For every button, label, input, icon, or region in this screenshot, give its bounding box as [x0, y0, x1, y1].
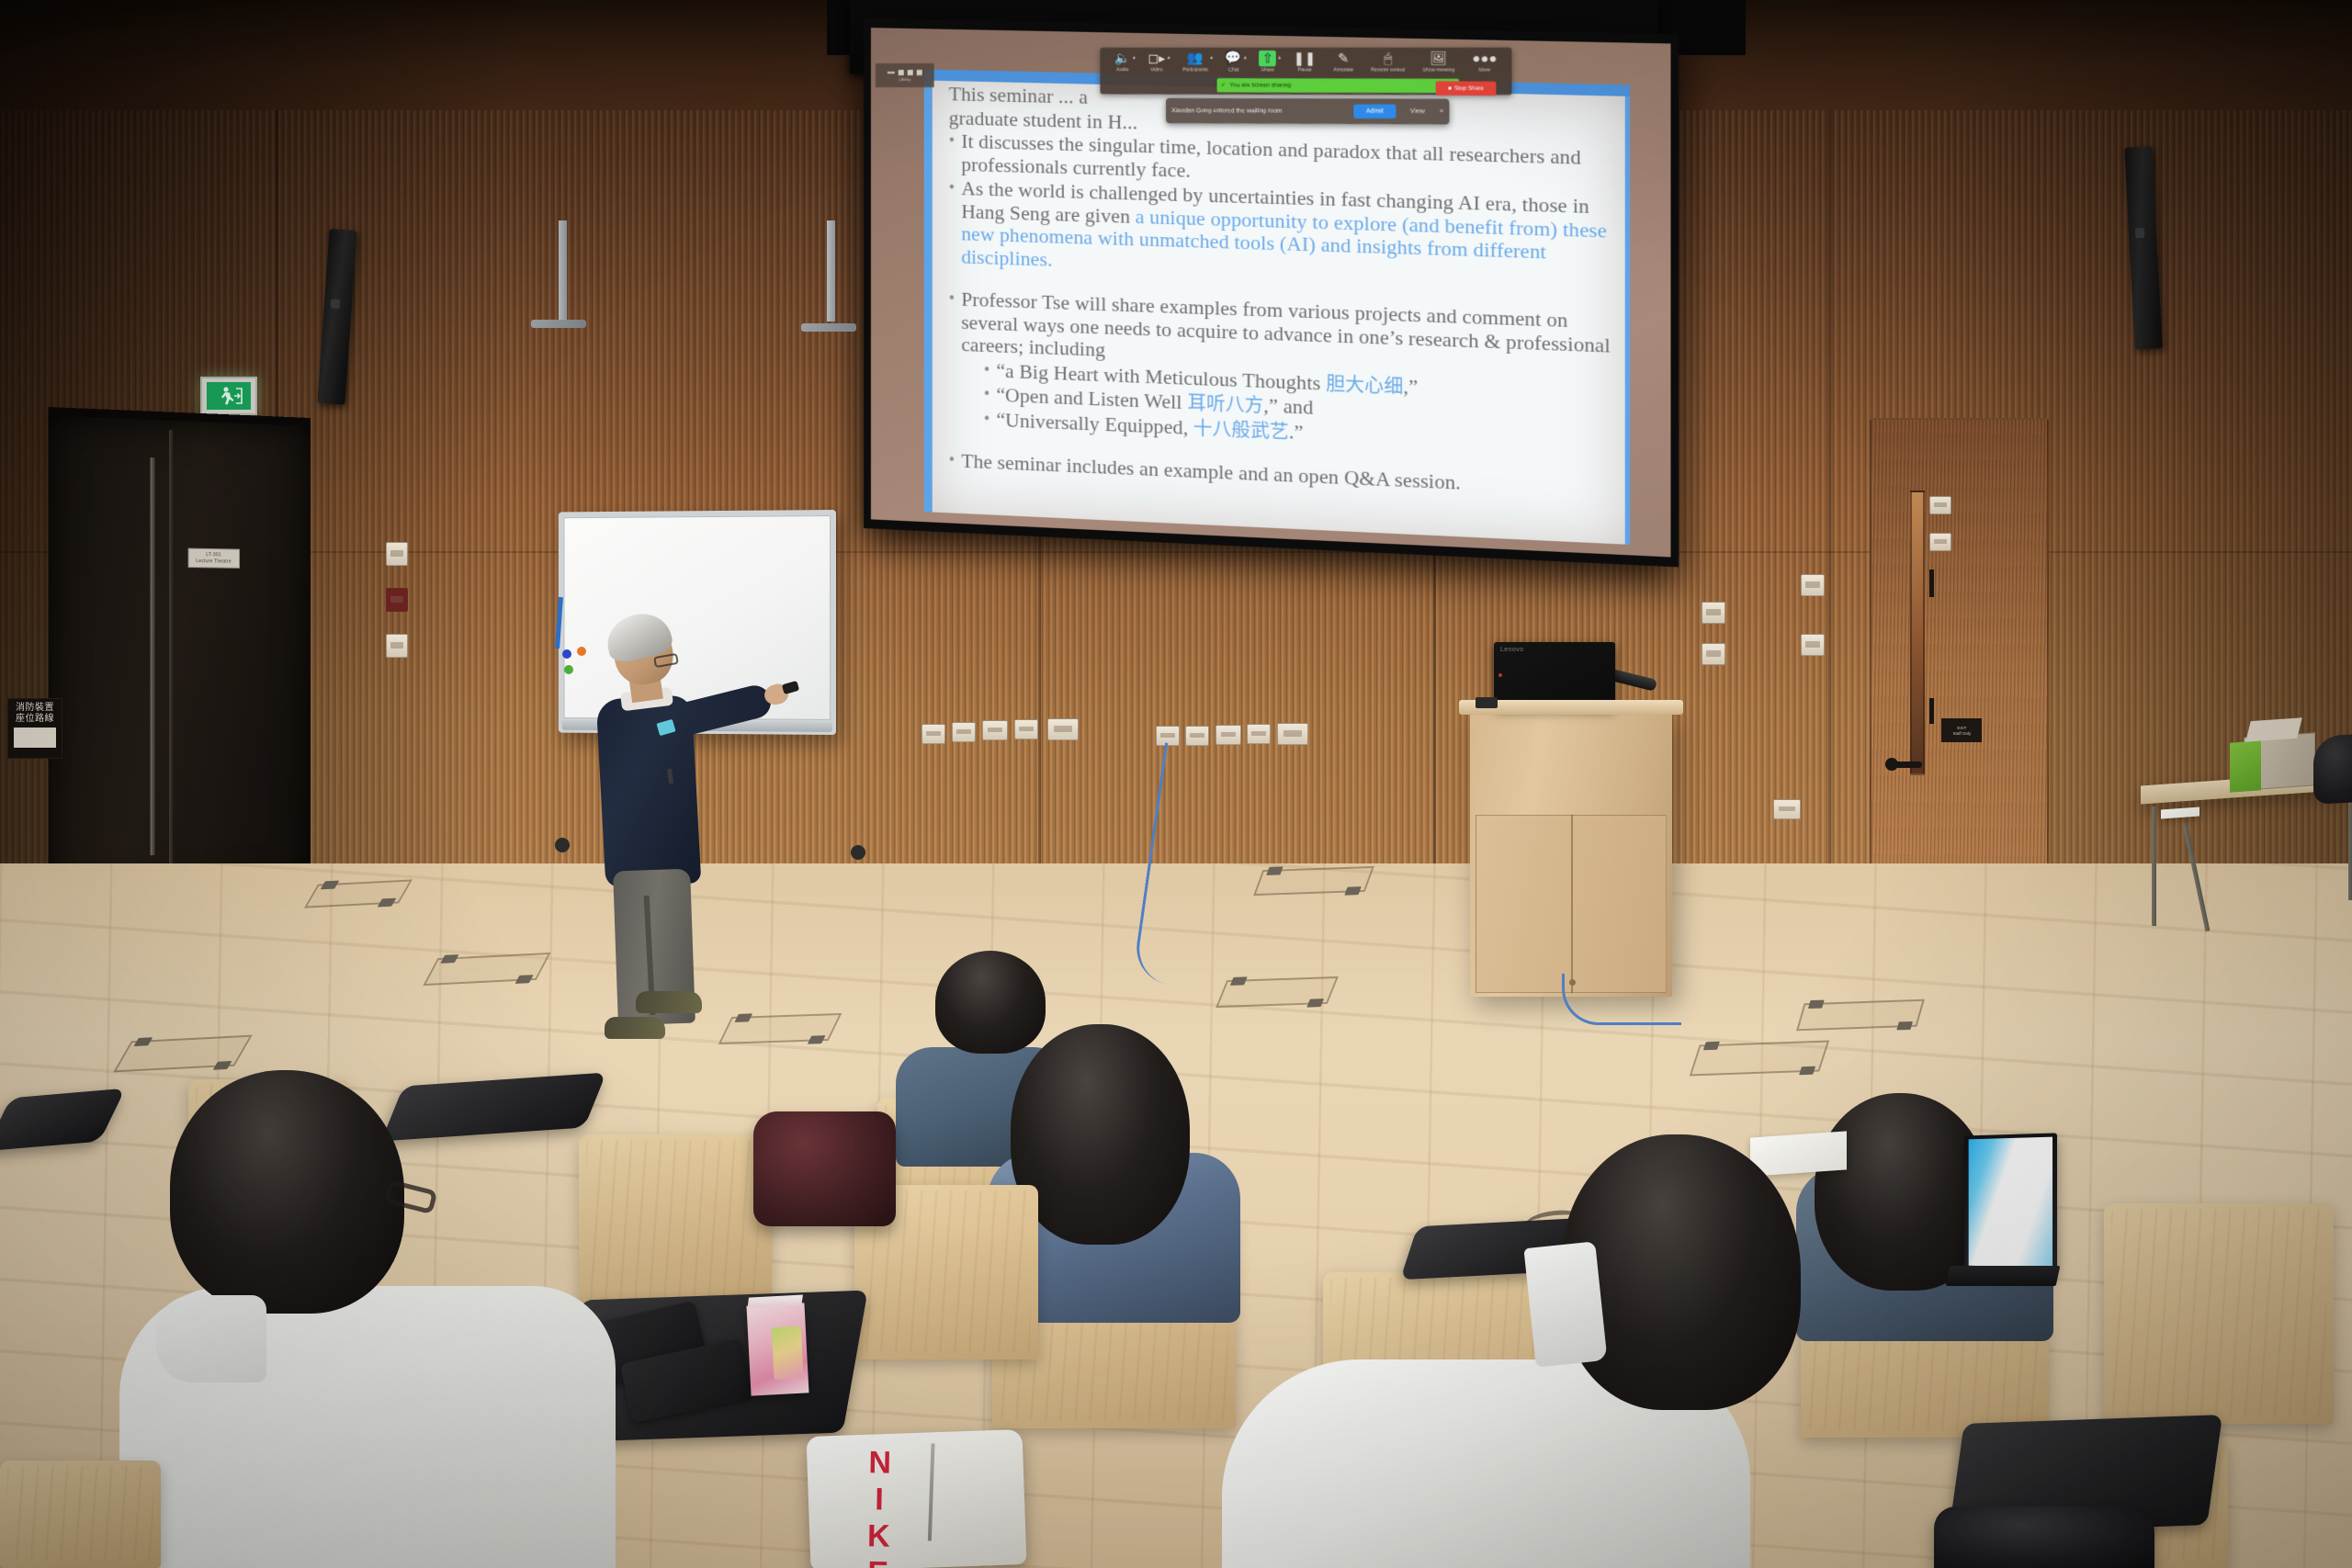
floor-service-box: [1253, 866, 1374, 896]
audience-laptop[interactable]: [1964, 1133, 2057, 1273]
bag-zipper[interactable]: [927, 1443, 934, 1540]
presenter-blazer: [596, 694, 702, 887]
podium-cabinet-split: [1571, 815, 1573, 993]
close-icon[interactable]: ×: [1440, 108, 1443, 115]
chevron-up-icon[interactable]: ▲: [1277, 55, 1282, 61]
wall-switch-plate[interactable]: [1216, 725, 1241, 745]
bullet-dot-icon: •: [949, 449, 955, 472]
whiteboard-magnet-green[interactable]: [564, 665, 573, 674]
view-button[interactable]: View: [1403, 108, 1433, 115]
wall-alarm-plate[interactable]: [386, 588, 408, 612]
whiteboard-foot-right: [801, 323, 856, 332]
zoom-toolbar-label: Chat: [1228, 67, 1238, 73]
network-cable: [1562, 974, 1681, 1025]
participants-icon: 👥: [1187, 51, 1204, 66]
stop-share-label: Stop Share: [1454, 85, 1484, 91]
bullet-dot-icon: •: [984, 358, 989, 381]
auditorium-seat[interactable]: [579, 1134, 772, 1318]
presenter-speaker: [579, 620, 744, 1052]
minimize-icon[interactable]: [888, 72, 895, 73]
whiteboard-foot-left: [531, 320, 586, 328]
laptop-screen[interactable]: [1969, 1137, 2052, 1269]
show-meeting-icon: 🖼: [1430, 51, 1447, 67]
juice-carton[interactable]: [746, 1303, 808, 1395]
stop-square-icon: ■: [1448, 85, 1452, 91]
zoom-toolbar-label: Pause: [1297, 67, 1311, 73]
chevron-up-icon[interactable]: ▲: [1209, 55, 1214, 61]
chevron-up-icon[interactable]: ▲: [1167, 55, 1171, 61]
door-hinge: [1929, 570, 1934, 597]
slide-text-plain-b: ,”: [1403, 375, 1418, 398]
wall-plate[interactable]: [1702, 643, 1725, 665]
slide-text-plain-b: ,” and: [1263, 394, 1313, 419]
square-icon[interactable]: [899, 69, 904, 74]
wall-socket-plate[interactable]: [1014, 719, 1038, 739]
door-plate-line2: Lecture Theatre: [196, 558, 232, 565]
wall-switch-plate[interactable]: [952, 722, 976, 742]
wall-switch-plate[interactable]: [1247, 724, 1271, 744]
auditorium-seat[interactable]: [2104, 1203, 2334, 1424]
zoom-toolbar-label: Annotate: [1333, 67, 1353, 73]
zoom-toolbar-audio[interactable]: 🔈 Audio ▲: [1106, 51, 1139, 73]
monitor-power-led: [1498, 673, 1502, 677]
wall-switch-plate[interactable]: [922, 724, 945, 744]
presentation-slide: This seminar ... a graduate student in H…: [924, 80, 1630, 544]
whiteboard-leg-right: [827, 220, 835, 321]
seat-wood-grain: [7, 1466, 153, 1561]
slide-text-plain-b: .”: [1289, 420, 1304, 443]
bullet-dot-icon: •: [949, 130, 955, 175]
laptop-base[interactable]: [1946, 1266, 2061, 1286]
chat-icon: 💬: [1226, 51, 1242, 66]
camera-icon: ◻▸: [1148, 51, 1165, 66]
box-green-label: [2230, 740, 2261, 792]
zoom-toolbar-chat[interactable]: 💬 Chat ▲: [1216, 51, 1250, 73]
auditorium-seat[interactable]: [0, 1461, 161, 1568]
zoom-toolbar-label: Video: [1150, 67, 1163, 73]
door-vision-panel: [1910, 491, 1925, 775]
wall-plate[interactable]: [386, 634, 408, 658]
zoom-toolbar-more[interactable]: ●●● More: [1464, 51, 1506, 73]
door-lever-handle[interactable]: [1891, 761, 1922, 768]
projection-surface: This seminar ... a graduate student in H…: [871, 28, 1671, 557]
wall-plate[interactable]: [1801, 574, 1825, 596]
zoom-toolbar-video[interactable]: ◻▸ Video ▲: [1139, 51, 1174, 73]
table-leg: [2152, 807, 2156, 926]
slide-body-text: This seminar ... a graduate student in H…: [949, 83, 1611, 503]
door-plate-line1: LT-301: [206, 552, 221, 558]
chevron-up-icon[interactable]: ▲: [1132, 55, 1136, 61]
wall-plate[interactable]: [1929, 533, 1951, 551]
door-hinge: [1929, 698, 1934, 724]
wall-data-plate[interactable]: [1047, 718, 1079, 740]
whiteboard-magnet-blue[interactable]: [562, 649, 571, 659]
right-door-plate-line2: Staff Only: [1953, 731, 1972, 736]
handout-paper[interactable]: [1750, 1131, 1847, 1176]
zoom-toolbar-label: Participants: [1182, 67, 1208, 73]
monitor-brand-label: Lenovo: [1500, 647, 1523, 653]
bullet-dot-icon: •: [984, 408, 989, 431]
nike-bag[interactable]: NIKE: [807, 1429, 1027, 1568]
door-split: [169, 430, 173, 883]
zoom-toolbar-show-meeting[interactable]: 🖼 Show meeting: [1414, 51, 1464, 73]
right-door-plate: EXIT Staff Only: [1941, 718, 1982, 742]
whiteboard-caster-right: [851, 845, 865, 860]
wall-plate[interactable]: [1773, 799, 1801, 819]
seat-wood-grain: [586, 1140, 764, 1311]
zoom-toolbar-annotate[interactable]: ✎ Annotate: [1325, 51, 1363, 73]
wall-socket-plate[interactable]: [1185, 726, 1209, 746]
carton-artwork: [772, 1326, 803, 1380]
slide-text-cjk: 胆大心细: [1326, 372, 1403, 398]
carton-gable-top: [748, 1294, 803, 1307]
floor-service-box: [1216, 976, 1339, 1008]
more-ellipsis-icon: ●●●: [1472, 51, 1497, 67]
mini-toolbar-label: Liberty: [899, 76, 910, 81]
zoom-toolbar-participants[interactable]: 👥 Participants ▲: [1174, 51, 1217, 73]
podium-control-panel[interactable]: [1476, 697, 1498, 708]
zoom-toolbar-label: More: [1479, 67, 1491, 73]
microphone-icon: 🔈: [1114, 51, 1131, 66]
fire-notice-line1: 消防裝置: [16, 703, 54, 713]
zoom-mini-toolbar[interactable]: Liberty: [876, 63, 934, 87]
bullet-dot-icon: •: [984, 383, 989, 406]
admit-button[interactable]: Admit: [1353, 104, 1396, 118]
annotate-pencil-icon: ✎: [1338, 51, 1349, 66]
whiteboard-leg-left: [559, 220, 567, 321]
zoom-toolbar-remote-control[interactable]: 🖱 Remote control: [1363, 51, 1414, 73]
podium-monitor[interactable]: Lenovo: [1494, 642, 1615, 708]
slide-text-cjk: 耳听八方: [1187, 391, 1263, 417]
presenter-shoe-front: [605, 1017, 665, 1039]
audience-person-head: [1815, 1093, 1989, 1291]
projection-screen: This seminar ... a graduate student in H…: [864, 18, 1679, 567]
floor-service-box: [1690, 1041, 1830, 1077]
pause-icon: ❚❚: [1294, 51, 1316, 66]
nike-logo-text: NIKE: [860, 1445, 899, 1568]
right-door-plate-line1: EXIT: [1957, 726, 1966, 730]
emergency-exit-sign: [200, 377, 257, 415]
floor-service-box: [1796, 999, 1925, 1032]
audience-person-head: [170, 1070, 404, 1314]
exit-running-man-icon: [207, 382, 251, 410]
door-push-bar[interactable]: [151, 457, 155, 855]
audience-person-head: [935, 951, 1046, 1054]
sharing-text: You are screen sharing: [1229, 82, 1291, 88]
wall-plate[interactable]: [386, 542, 408, 566]
zoom-toolbar-label: Remote control: [1371, 67, 1405, 73]
slide-text-cjk: 十八般武艺: [1193, 416, 1289, 443]
wall-seam: [1828, 0, 1831, 863]
zoom-toolbar-share[interactable]: ⇧ Share ▲: [1250, 51, 1284, 73]
wall-plate[interactable]: [1929, 496, 1951, 514]
fire-notice-blank-field: [14, 728, 56, 748]
audience-hood: [156, 1295, 266, 1382]
wall-plate[interactable]: [1702, 602, 1725, 624]
wall-socket-plate[interactable]: [982, 720, 1008, 740]
window-icon[interactable]: [908, 69, 913, 74]
wall-plate[interactable]: [1801, 634, 1825, 656]
lecture-hall-photo: LT-301 Lecture Theatre 消防裝置 座位路線 EXIT St…: [0, 0, 2352, 1568]
waiting-room-notification[interactable]: Xiaodan Gong entered the waiting room Ad…: [1166, 98, 1449, 125]
bullet-dot-icon: •: [949, 288, 955, 355]
share-check-icon: ✓: [1221, 82, 1226, 88]
zoom-toolbar-label: Audio: [1116, 67, 1129, 73]
right-wood-door[interactable]: EXIT Staff Only: [1870, 418, 2049, 896]
grid-icon[interactable]: [917, 69, 922, 74]
student-backpack[interactable]: [753, 1111, 896, 1226]
door-room-plate: LT-301 Lecture Theatre: [187, 548, 239, 569]
zoom-toolbar-pause[interactable]: ❚❚ Pause: [1284, 51, 1324, 73]
mini-toolbar-icons: [888, 69, 922, 74]
screen-sharing-indicator: ✓ You are screen sharing ● ■ ●: [1217, 78, 1459, 93]
fire-safety-notice: 消防裝置 座位路線: [7, 698, 62, 759]
left-double-door[interactable]: LT-301 Lecture Theatre: [48, 407, 311, 897]
whiteboard-caster-left: [555, 838, 570, 852]
student-backpack[interactable]: [1934, 1506, 2154, 1568]
cardboard-box[interactable]: [2244, 732, 2315, 790]
box-open-flap: [2245, 717, 2301, 741]
share-screen-icon: ⇧: [1260, 51, 1276, 66]
stop-share-button[interactable]: ■ Stop Share: [1436, 81, 1497, 96]
wall-data-plate[interactable]: [1277, 723, 1308, 745]
remote-control-icon: 🖱: [1384, 51, 1392, 67]
zoom-toolbar-label: Show meeting: [1422, 67, 1454, 73]
chevron-up-icon[interactable]: ▲: [1243, 55, 1248, 61]
lectern-podium[interactable]: Lenovo: [1470, 712, 1672, 997]
zoom-toolbar-label: Share: [1261, 67, 1274, 73]
waiting-room-message: Xiaodan Gong entered the waiting room: [1171, 107, 1347, 115]
bullet-dot-icon: •: [949, 177, 955, 268]
seat-wood-grain: [2111, 1209, 2326, 1416]
fire-notice-line2: 座位路線: [16, 714, 54, 724]
presenter-shoe-back: [636, 991, 702, 1013]
face-mask: [1523, 1241, 1607, 1367]
